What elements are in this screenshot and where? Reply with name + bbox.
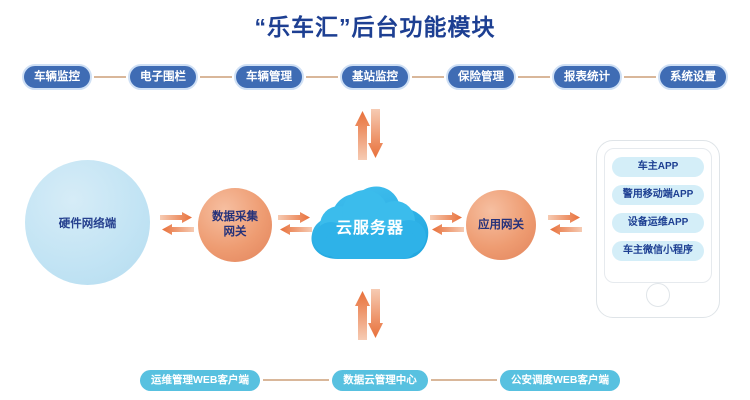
module-pill-system-settings[interactable]: 系统设置: [658, 64, 728, 90]
phone-screen: 车主APP 警用移动端APP 设备运维APP 车主微信小程序: [604, 148, 712, 283]
top-module-row: 车辆监控 电子围栏 车辆管理 基站监控 保险管理 报表统计 系统设置: [22, 64, 728, 90]
module-pill-insurance-management[interactable]: 保险管理: [446, 64, 516, 90]
bottom-client-row: 运维管理WEB客户端 数据云管理中心 公安调度WEB客户端: [140, 368, 620, 392]
node-hardware-network-label: 硬件网络端: [59, 215, 117, 231]
vertical-arrows-below-cloud: [355, 288, 383, 340]
module-pill-vehicle-monitor[interactable]: 车辆监控: [22, 64, 92, 90]
module-pill-base-station-monitor[interactable]: 基站监控: [340, 64, 410, 90]
phone-home-button[interactable]: [646, 283, 670, 307]
arrows-app-gateway-to-phone: [548, 212, 582, 238]
node-application-gateway: 应用网关: [466, 190, 536, 260]
bidirectional-horizontal-arrows-icon: [160, 212, 194, 238]
app-pill-owner-app[interactable]: 车主APP: [612, 157, 704, 177]
bidirectional-vertical-arrows-icon: [355, 108, 383, 160]
connector-line: [306, 76, 338, 78]
node-cloud-server-label: 云服务器: [305, 181, 435, 271]
node-cloud-server: 云服务器: [305, 181, 435, 271]
client-pill-police-dispatch-web[interactable]: 公安调度WEB客户端: [500, 370, 620, 391]
arrows-hardware-to-collect-gateway: [160, 212, 194, 238]
app-pill-owner-wechat-miniprogram[interactable]: 车主微信小程序: [612, 241, 704, 261]
node-data-collection-gateway-label: 数据采集网关: [212, 210, 258, 240]
connector-line: [431, 379, 497, 381]
client-pill-ops-web[interactable]: 运维管理WEB客户端: [140, 370, 260, 391]
connector-line: [518, 76, 550, 78]
bidirectional-horizontal-arrows-icon: [548, 212, 582, 238]
bidirectional-horizontal-arrows-icon: [430, 212, 464, 238]
node-data-collection-gateway: 数据采集网关: [198, 188, 272, 262]
phone-mockup: 车主APP 警用移动端APP 设备运维APP 车主微信小程序: [596, 140, 720, 318]
connector-line: [412, 76, 444, 78]
connector-line: [94, 76, 126, 78]
vertical-arrows-above-cloud: [355, 108, 383, 160]
node-hardware-network: 硬件网络端: [25, 160, 150, 285]
module-pill-geo-fence[interactable]: 电子围栏: [128, 64, 198, 90]
module-pill-report-statistics[interactable]: 报表统计: [552, 64, 622, 90]
app-pill-police-mobile-app[interactable]: 警用移动端APP: [612, 185, 704, 205]
arrows-cloud-to-app-gateway: [430, 212, 464, 238]
bidirectional-vertical-arrows-icon: [355, 288, 383, 340]
client-pill-data-cloud-center[interactable]: 数据云管理中心: [332, 370, 428, 391]
connector-line: [263, 379, 329, 381]
page-title: “乐车汇”后台功能模块: [0, 8, 750, 42]
node-application-gateway-label: 应用网关: [478, 218, 524, 233]
diagram-canvas: “乐车汇”后台功能模块 车辆监控 电子围栏 车辆管理 基站监控 保险管理 报表统…: [0, 0, 750, 400]
app-pill-device-ops-app[interactable]: 设备运维APP: [612, 213, 704, 233]
connector-line: [624, 76, 656, 78]
module-pill-vehicle-management[interactable]: 车辆管理: [234, 64, 304, 90]
connector-line: [200, 76, 232, 78]
